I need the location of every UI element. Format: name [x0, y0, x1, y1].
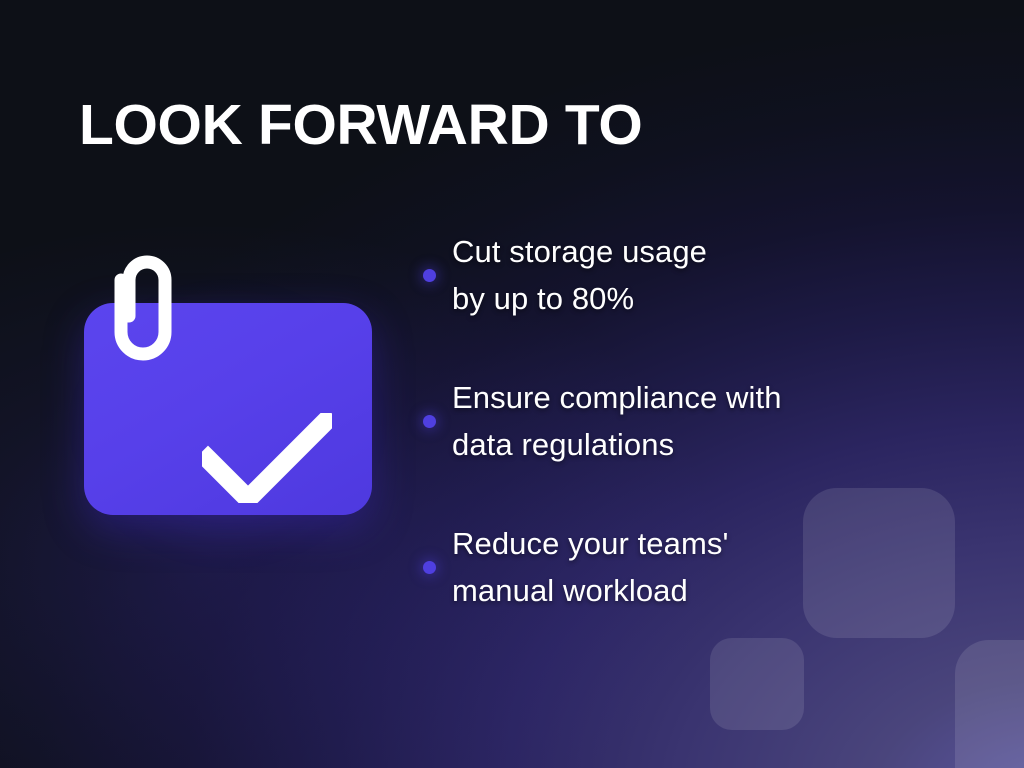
- list-item: Cut storage usage by up to 80%: [423, 228, 893, 322]
- decorative-rounded-square-small: [710, 638, 804, 730]
- feature-icon: [84, 254, 384, 524]
- bullet-dot-icon: [423, 561, 436, 574]
- list-item-label: Reduce your teams' manual workload: [452, 520, 729, 614]
- bullet-dot-icon: [423, 269, 436, 282]
- slide-canvas: LOOK FORWARD TO Cut storage usage by up …: [0, 0, 1024, 768]
- list-item-label: Ensure compliance with data regulations: [452, 374, 782, 468]
- page-title: LOOK FORWARD TO: [79, 96, 642, 156]
- list-item: Reduce your teams' manual workload: [423, 520, 893, 614]
- checkmark-icon: [202, 413, 332, 503]
- bullet-dot-icon: [423, 415, 436, 428]
- benefits-list: Cut storage usage by up to 80% Ensure co…: [423, 228, 893, 614]
- list-item: Ensure compliance with data regulations: [423, 374, 893, 468]
- list-item-label: Cut storage usage by up to 80%: [452, 228, 707, 322]
- paperclip-icon: [108, 254, 198, 364]
- decorative-rounded-square-edge: [955, 640, 1024, 768]
